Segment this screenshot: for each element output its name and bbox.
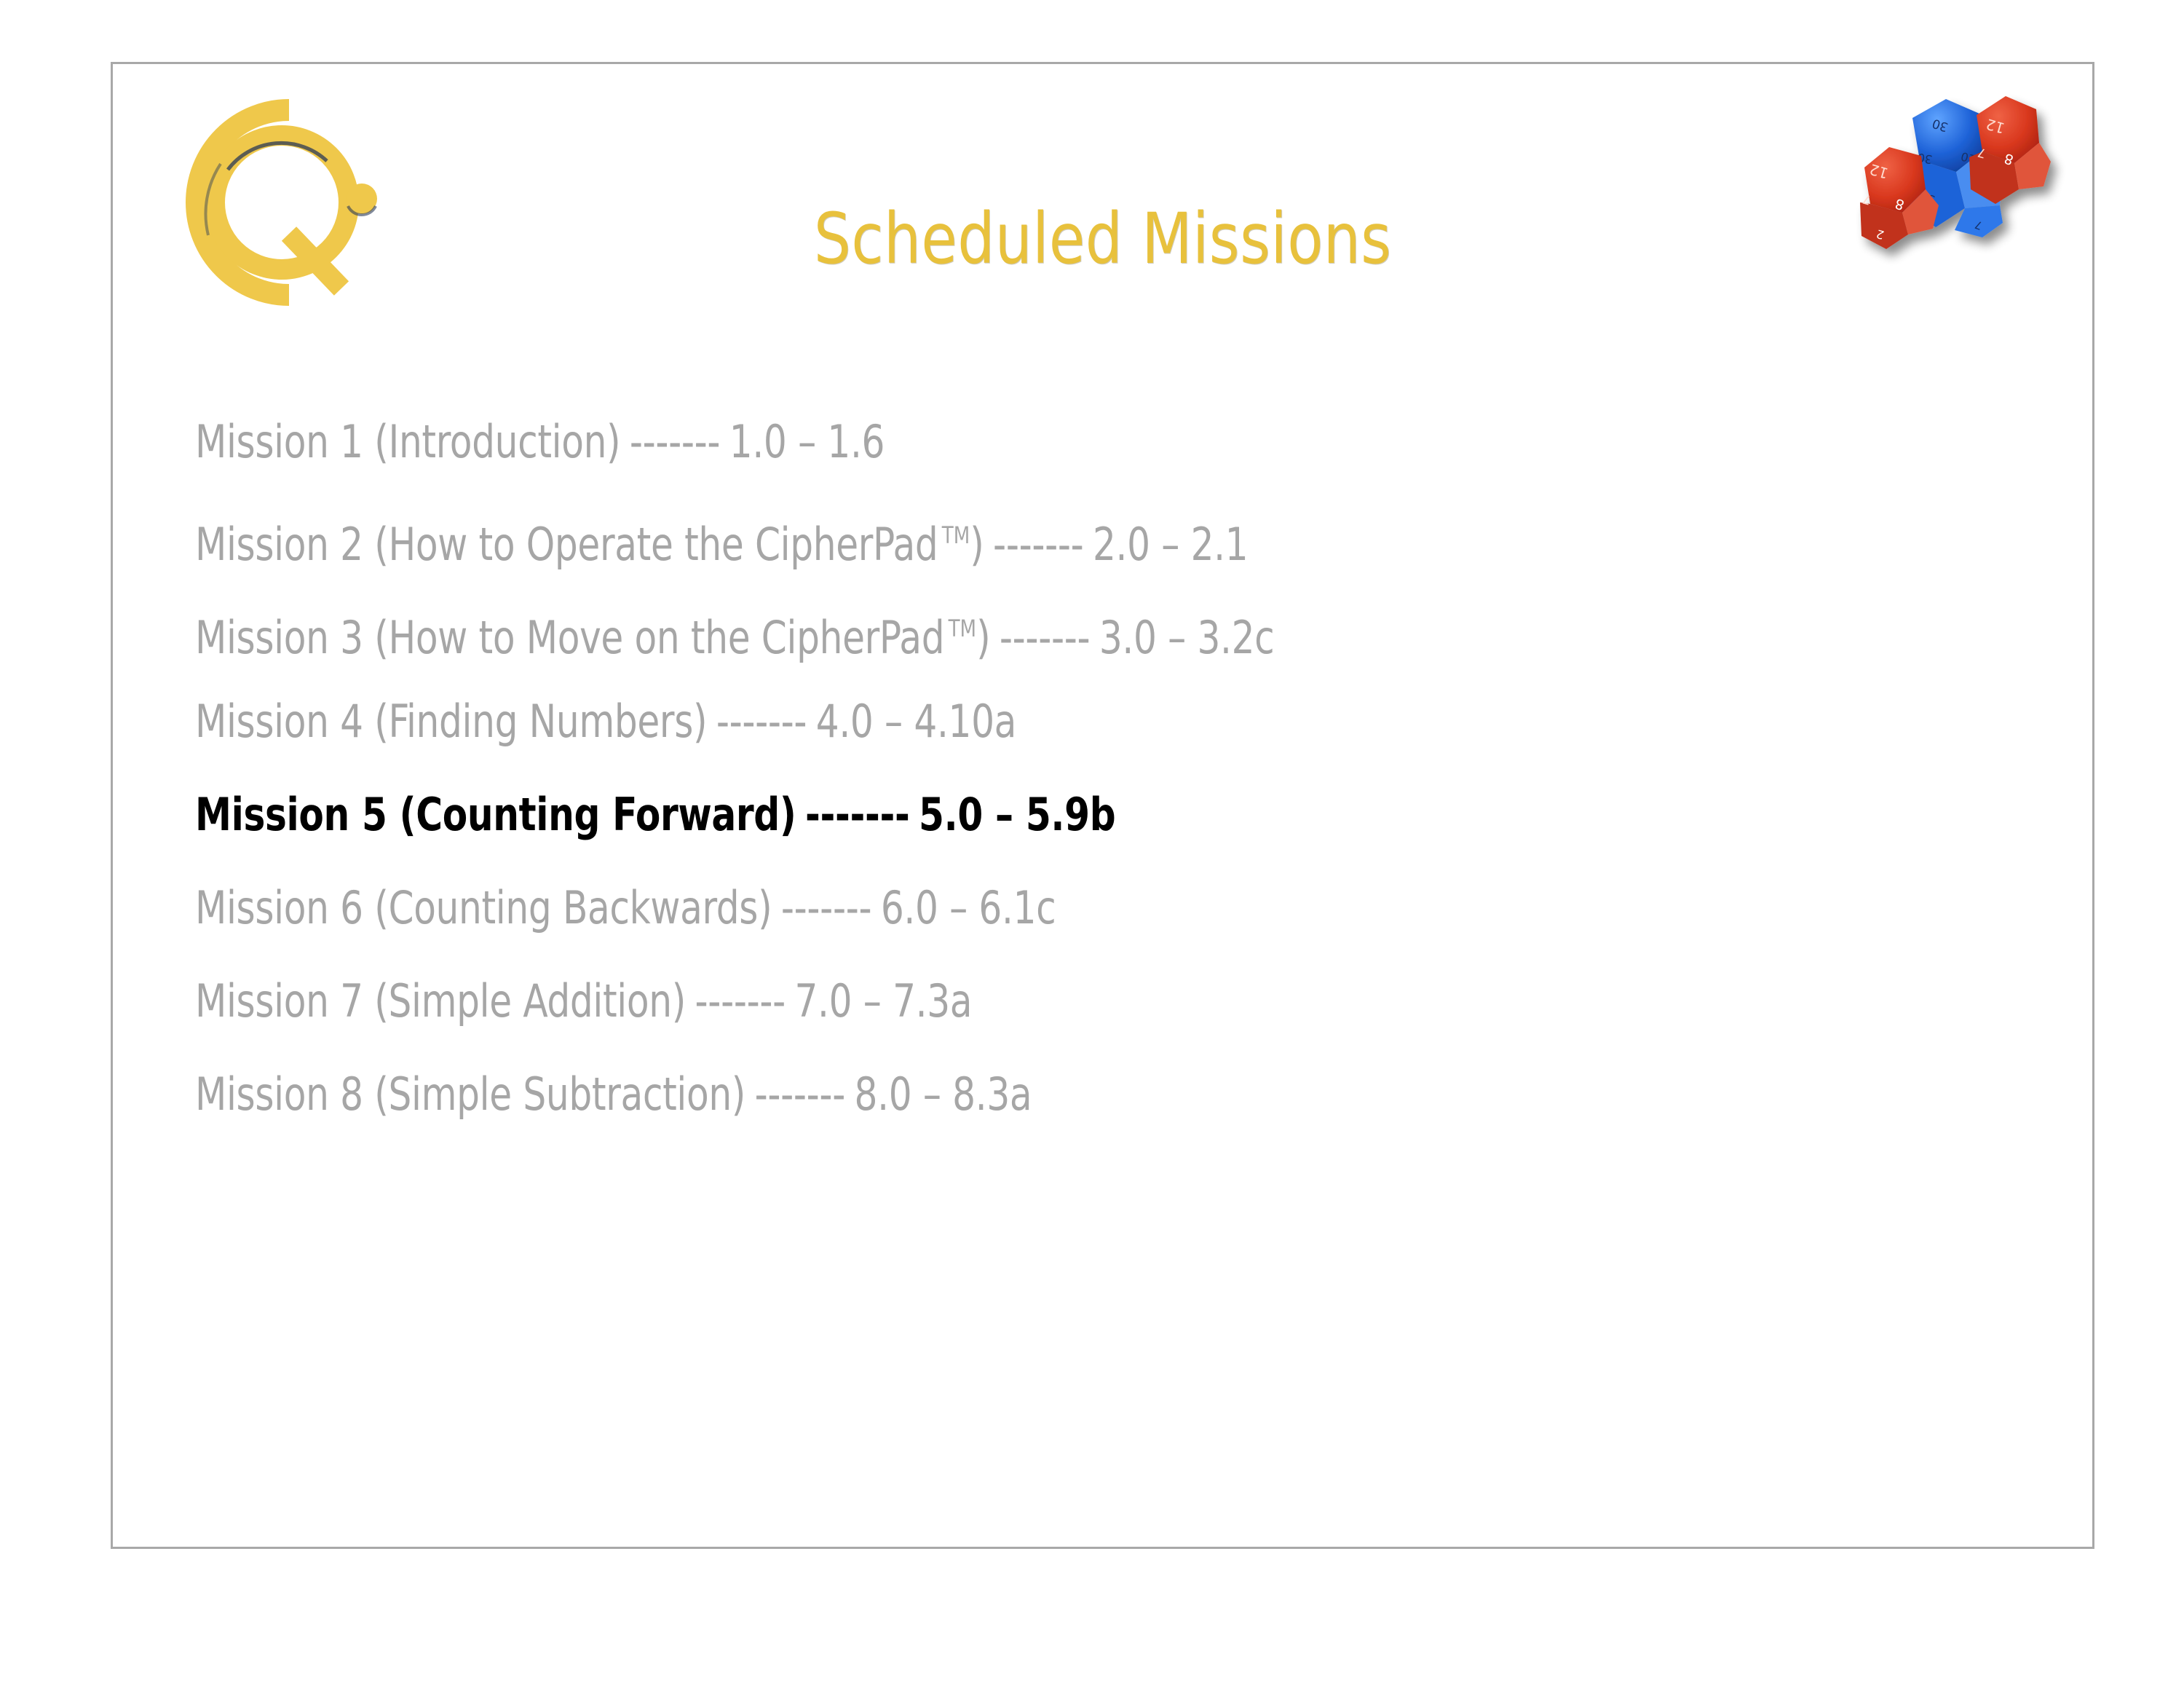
mission-label: Mission 7 (Simple Addition) [195, 974, 686, 1028]
mission-separator: ------- [620, 415, 729, 468]
list-item[interactable]: Mission 4 (Finding Numbers)-------4.0 – … [195, 675, 2015, 768]
list-item-active[interactable]: Mission 5 (Counting Forward)-------5.0 –… [195, 768, 2015, 861]
trademark-symbol: TM [944, 615, 976, 642]
mission-range: 3.0 – 3.2c [1099, 611, 1275, 664]
mission-range: 2.0 – 2.1 [1093, 518, 1248, 571]
trademark-symbol: TM [938, 521, 970, 549]
mission-separator: ------- [745, 1068, 855, 1121]
mission-label: Mission 1 (Introduction) [195, 415, 620, 468]
list-item[interactable]: Mission 1 (Introduction)-------1.0 – 1.6 [195, 395, 2015, 489]
mission-label: Mission 2 (How to Operate the CipherPad [195, 518, 938, 571]
list-item[interactable]: Mission 6 (Counting Backwards)-------6.0… [195, 861, 2015, 955]
mission-separator: ------- [686, 974, 795, 1028]
list-item[interactable]: Mission 8 (Simple Subtraction)-------8.0… [195, 1048, 2015, 1141]
mission-range: 6.0 – 6.1c [881, 881, 1056, 934]
list-item[interactable]: Mission 2 (How to Operate the CipherPadT… [195, 489, 2015, 582]
mission-separator: ------- [984, 518, 1093, 571]
page-title: Scheduled Missions [113, 202, 2092, 276]
mission-separator: ------- [990, 611, 1099, 664]
mission-list: Mission 1 (Introduction)-------1.0 – 1.6… [195, 395, 2015, 1141]
mission-range: 8.0 – 8.3a [855, 1068, 1032, 1121]
mission-range: 7.0 – 7.3a [794, 974, 972, 1028]
mission-label-suffix: ) [976, 611, 990, 664]
slide-canvas: Scheduled Missions [111, 62, 2094, 1549]
polyhedral-dice-image: 30 30 10 5 7 12 8 7 2 12 8 [1848, 80, 2067, 277]
mission-separator: ------- [772, 881, 881, 934]
list-item[interactable]: Mission 3 (How to Move on the CipherPadT… [195, 582, 2015, 675]
mission-label: Mission 3 (How to Move on the CipherPad [195, 611, 944, 664]
list-item[interactable]: Mission 7 (Simple Addition)-------7.0 – … [195, 955, 2015, 1048]
mission-separator: ------- [796, 788, 919, 841]
mission-range: 5.0 – 5.9b [919, 788, 1115, 841]
mission-label-suffix: ) [970, 518, 984, 571]
mission-range: 1.0 – 1.6 [729, 415, 885, 468]
mission-label: Mission 5 (Counting Forward) [195, 788, 796, 841]
mission-range: 4.0 – 4.10a [816, 695, 1016, 748]
mission-label: Mission 8 (Simple Subtraction) [195, 1068, 745, 1121]
mission-label: Mission 4 (Finding Numbers) [195, 695, 707, 748]
mission-separator: ------- [707, 695, 816, 748]
page-title-text: Scheduled Missions [814, 202, 1392, 276]
mission-label: Mission 6 (Counting Backwards) [195, 881, 772, 934]
